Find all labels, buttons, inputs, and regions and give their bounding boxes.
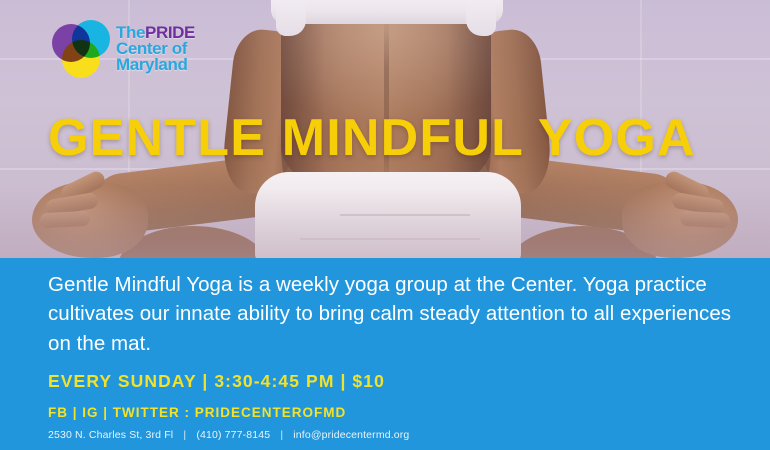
logo-line-3: Maryland bbox=[116, 57, 195, 73]
pride-center-logo[interactable]: ThePRIDE Center of Maryland bbox=[52, 20, 195, 78]
flyer-headline: GENTLE MINDFUL YOGA bbox=[48, 112, 696, 164]
contact-line: 2530 N. Charles St, 3rd Fl | (410) 777-8… bbox=[48, 429, 409, 441]
logo-wordmark: ThePRIDE Center of Maryland bbox=[116, 25, 195, 74]
contact-email[interactable]: info@pridecentermd.org bbox=[293, 429, 409, 441]
floor-shadow bbox=[0, 188, 770, 258]
info-panel: Gentle Mindful Yoga is a weekly yoga gro… bbox=[0, 258, 770, 450]
logo-circle-yellow bbox=[62, 40, 100, 78]
yoga-event-flyer: ThePRIDE Center of Maryland GENTLE MINDF… bbox=[0, 0, 770, 450]
contact-separator: | bbox=[176, 429, 193, 441]
schedule-line: EVERY SUNDAY | 3:30-4:45 PM | $10 bbox=[48, 371, 385, 392]
description-text: Gentle Mindful Yoga is a weekly yoga gro… bbox=[48, 270, 738, 358]
contact-address: 2530 N. Charles St, 3rd Fl bbox=[48, 429, 173, 441]
contact-phone[interactable]: (410) 777-8145 bbox=[196, 429, 270, 441]
sports-bra-strap-left bbox=[276, 0, 306, 36]
venn-circles-icon bbox=[52, 20, 110, 78]
social-handles-line: FB | IG | TWITTER : PRIDECENTEROFMD bbox=[48, 405, 346, 420]
sports-bra-strap-right bbox=[466, 0, 496, 36]
contact-separator: | bbox=[273, 429, 290, 441]
